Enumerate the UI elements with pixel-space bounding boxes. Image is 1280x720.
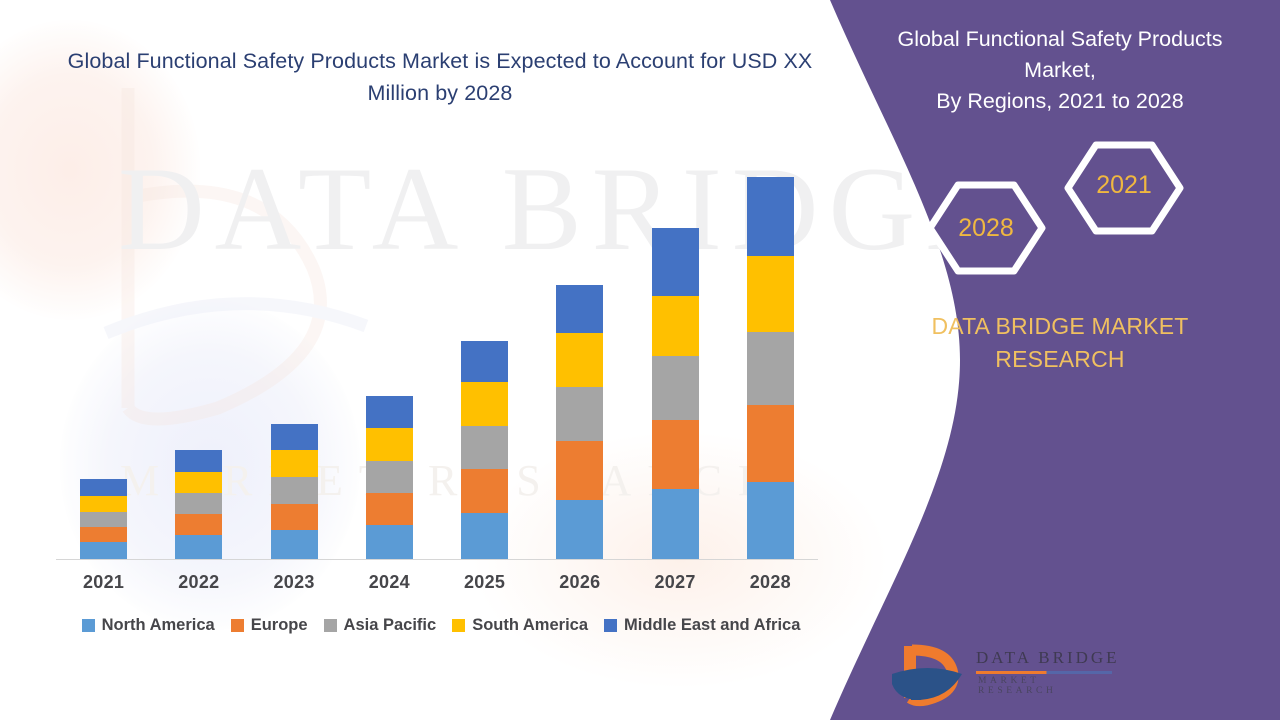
bar-group <box>532 150 627 559</box>
bar-segment[interactable] <box>366 396 413 428</box>
bar-segment[interactable] <box>652 356 699 420</box>
legend-swatch-icon <box>324 619 337 632</box>
bar-segment[interactable] <box>652 228 699 296</box>
chart-legend: North AmericaEuropeAsia PacificSouth Ame… <box>56 616 826 635</box>
chart-title: Global Functional Safety Products Market… <box>60 46 820 110</box>
logo-primary-text: DATA BRIDGE <box>976 648 1120 668</box>
x-axis-line <box>56 559 818 560</box>
x-axis-tick-label: 2022 <box>151 572 246 593</box>
bar-segment[interactable] <box>80 479 127 496</box>
bar-segment[interactable] <box>366 525 413 559</box>
brand-panel-title: Global Functional Safety Products Market… <box>860 24 1260 118</box>
bar-segment[interactable] <box>747 256 794 333</box>
bar-segment[interactable] <box>747 405 794 482</box>
infographic-slide: DATA BRIDGE MARKET RESEARCH Global Funct… <box>0 0 1280 720</box>
x-axis-tick-label: 2025 <box>437 572 532 593</box>
stacked-bar[interactable] <box>271 424 318 559</box>
legend-label: North America <box>102 616 215 635</box>
x-axis-tick-label: 2028 <box>723 572 818 593</box>
stacked-bar[interactable] <box>747 177 794 559</box>
bar-segment[interactable] <box>80 496 127 511</box>
bar-segment[interactable] <box>80 527 127 541</box>
x-axis-tick-label: 2021 <box>56 572 151 593</box>
bar-segment[interactable] <box>461 426 508 469</box>
bar-segment[interactable] <box>175 450 222 472</box>
legend-swatch-icon <box>82 619 95 632</box>
bar-group <box>723 150 818 559</box>
bar-segment[interactable] <box>175 493 222 514</box>
bar-group <box>56 150 151 559</box>
bar-segment[interactable] <box>175 514 222 536</box>
legend-label: Asia Pacific <box>344 616 437 635</box>
x-axis-tick-label: 2027 <box>628 572 723 593</box>
legend-item[interactable]: Asia Pacific <box>324 616 437 635</box>
bar-segment[interactable] <box>747 177 794 256</box>
legend-item[interactable]: Europe <box>231 616 308 635</box>
bar-segment[interactable] <box>556 500 603 559</box>
bar-segment[interactable] <box>271 477 318 504</box>
bar-segment[interactable] <box>747 482 794 559</box>
legend-label: South America <box>472 616 588 635</box>
bar-segment[interactable] <box>366 428 413 461</box>
chart-plot-area <box>56 150 818 560</box>
logo-secondary-text: MARKET RESEARCH <box>978 676 1120 696</box>
brand-name: DATA BRIDGE MARKET RESEARCH <box>870 310 1250 375</box>
stacked-bar[interactable] <box>366 396 413 559</box>
legend-label: Europe <box>251 616 308 635</box>
brand-panel: Global Functional Safety Products Market… <box>830 0 1280 720</box>
x-axis-tick-label: 2023 <box>247 572 342 593</box>
bar-segment[interactable] <box>271 424 318 451</box>
logo-divider <box>976 671 1112 674</box>
bar-segment[interactable] <box>366 493 413 525</box>
x-axis-labels: 20212022202320242025202620272028 <box>56 572 818 593</box>
stacked-bar[interactable] <box>461 341 508 559</box>
bar-segment[interactable] <box>556 441 603 499</box>
year-hexagon-group: 2021 2028 <box>900 140 1230 290</box>
hexagon-2028-label: 2028 <box>930 214 1042 243</box>
legend-swatch-icon <box>604 619 617 632</box>
company-logo: DATA BRIDGE MARKET RESEARCH <box>890 640 1120 710</box>
bar-group <box>628 150 723 559</box>
bar-segment[interactable] <box>461 341 508 382</box>
bar-group <box>437 150 532 559</box>
x-axis-tick-label: 2024 <box>342 572 437 593</box>
bar-segment[interactable] <box>271 530 318 559</box>
legend-swatch-icon <box>231 619 244 632</box>
bar-segment[interactable] <box>652 420 699 490</box>
stacked-bar[interactable] <box>556 285 603 559</box>
legend-item[interactable]: South America <box>452 616 588 635</box>
bar-segment[interactable] <box>80 512 127 527</box>
bar-group <box>247 150 342 559</box>
bar-segment[interactable] <box>175 535 222 559</box>
stacked-bar[interactable] <box>652 228 699 559</box>
bar-segment[interactable] <box>366 461 413 494</box>
bar-segment[interactable] <box>461 469 508 513</box>
bar-segment[interactable] <box>271 450 318 477</box>
legend-label: Middle East and Africa <box>624 616 800 635</box>
bar-segment[interactable] <box>556 387 603 441</box>
x-axis-tick-label: 2026 <box>532 572 627 593</box>
legend-item[interactable]: Middle East and Africa <box>604 616 800 635</box>
bar-segment[interactable] <box>175 472 222 494</box>
bar-segment[interactable] <box>461 513 508 559</box>
bar-segment[interactable] <box>556 333 603 387</box>
bar-segment[interactable] <box>461 382 508 426</box>
stacked-bar[interactable] <box>80 479 127 559</box>
bar-series-container <box>56 150 818 559</box>
stacked-bar[interactable] <box>175 450 222 559</box>
bar-segment[interactable] <box>652 489 699 559</box>
bar-segment[interactable] <box>747 332 794 405</box>
bar-group <box>342 150 437 559</box>
bar-group <box>151 150 246 559</box>
hexagon-2021-label: 2021 <box>1068 171 1180 200</box>
legend-swatch-icon <box>452 619 465 632</box>
bar-segment[interactable] <box>271 504 318 531</box>
chart-panel: Global Functional Safety Products Market… <box>0 0 900 720</box>
bar-segment[interactable] <box>556 285 603 332</box>
bar-segment[interactable] <box>80 542 127 559</box>
legend-item[interactable]: North America <box>82 616 215 635</box>
bar-segment[interactable] <box>652 296 699 356</box>
